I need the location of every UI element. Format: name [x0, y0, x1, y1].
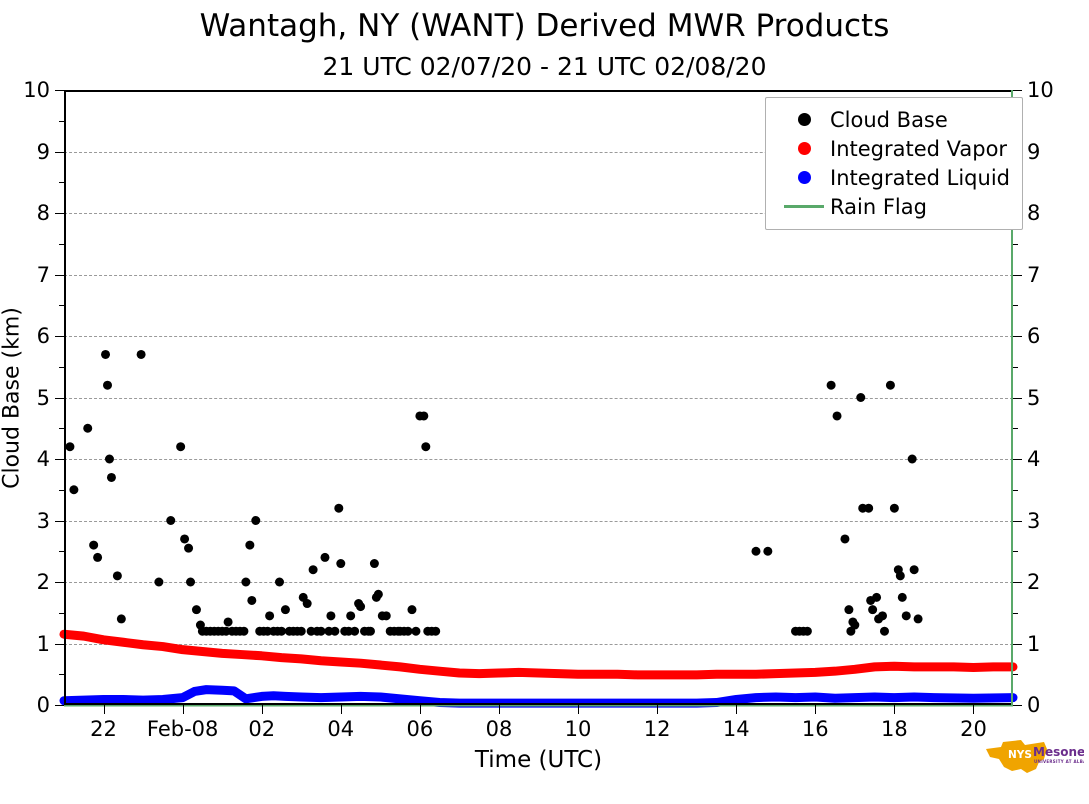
cloud-base-point	[370, 559, 379, 568]
y-minor-tick-left	[59, 674, 64, 675]
legend-cloud-base[interactable]: Cloud Base	[778, 105, 1010, 134]
y-tick-left-9	[55, 152, 64, 153]
cloud-base-point	[878, 611, 887, 620]
y-ticklabel-right-10: 10	[1027, 78, 1054, 102]
y-ticklabel-right-0: 0	[1027, 693, 1040, 717]
cloud-base-point	[105, 455, 114, 464]
x-ticklabel-5: 08	[486, 717, 513, 741]
cloud-base-point	[180, 534, 189, 543]
cloud-base-point	[914, 614, 923, 623]
y-ticklabel-left-8: 8	[37, 201, 50, 225]
legend-rain-flag[interactable]: Rain Flag	[778, 192, 1010, 221]
cloud-base-point	[176, 442, 185, 451]
x-ticklabel-8: 14	[723, 717, 750, 741]
y-minor-tick-left	[59, 182, 64, 183]
y-tick-left-1	[55, 644, 64, 645]
cloud-base-point	[69, 485, 78, 494]
cloud-base-scatter	[65, 350, 922, 636]
y-minor-tick-left	[59, 428, 64, 429]
cloud-base-point	[908, 455, 917, 464]
x-tick-0	[104, 705, 105, 714]
y-tick-right-6	[1013, 336, 1022, 337]
cloud-base-point	[356, 602, 365, 611]
cloud-base-point	[303, 599, 312, 608]
cloud-base-point	[317, 627, 326, 636]
cloud-base-point	[93, 553, 102, 562]
axis-spine-top	[64, 90, 1013, 92]
cloud-base-point	[65, 442, 74, 451]
y-tick-left-6	[55, 336, 64, 337]
legend-swatch	[784, 205, 824, 208]
x-ticklabel-6: 10	[565, 717, 592, 741]
cloud-base-point	[366, 627, 375, 636]
y-ticklabel-left-2: 2	[37, 570, 50, 594]
cloud-base-point	[281, 605, 290, 614]
y-tick-left-5	[55, 398, 64, 399]
y-minor-tick-left	[59, 490, 64, 491]
cloud-base-point	[309, 565, 318, 574]
x-tick-7	[657, 705, 658, 714]
y-ticklabel-right-4: 4	[1027, 447, 1040, 471]
y-ticklabel-left-1: 1	[37, 632, 50, 656]
cloud-base-point	[241, 578, 250, 587]
y-ticklabel-right-2: 2	[1027, 570, 1040, 594]
y-tick-left-7	[55, 275, 64, 276]
legend-label: Integrated Liquid	[830, 166, 1010, 190]
x-tick-11	[973, 705, 974, 714]
cloud-base-point	[320, 553, 329, 562]
legend-dot-icon	[778, 142, 830, 155]
y-tick-right-5	[1013, 398, 1022, 399]
cloud-base-point	[326, 611, 335, 620]
x-tick-6	[578, 705, 579, 714]
x-ticklabel-3: 04	[327, 717, 354, 741]
y-minor-tick-left	[59, 613, 64, 614]
cloud-base-point	[763, 547, 772, 556]
y-ticklabel-right-1: 1	[1027, 632, 1040, 656]
x-tick-8	[736, 705, 737, 714]
y-minor-tick-right	[1013, 244, 1018, 245]
cloud-base-point	[251, 516, 260, 525]
cloud-base-point	[346, 611, 355, 620]
cloud-base-point	[192, 605, 201, 614]
cloud-base-point	[374, 590, 383, 599]
logo-nys-text: NYS	[1008, 749, 1032, 761]
cloud-base-point	[336, 559, 345, 568]
y-tick-left-3	[55, 521, 64, 522]
cloud-base-point	[265, 611, 274, 620]
x-tick-4	[420, 705, 421, 714]
cloud-base-point	[431, 627, 440, 636]
x-tick-2	[262, 705, 263, 714]
x-tick-1	[183, 705, 184, 714]
page-title: Wantagh, NY (WANT) Derived MWR Products	[0, 8, 1089, 44]
cloud-base-point	[154, 578, 163, 587]
cloud-base-point	[856, 393, 865, 402]
y-tick-right-2	[1013, 582, 1022, 583]
y-tick-left-2	[55, 582, 64, 583]
y-minor-tick-right	[1013, 674, 1018, 675]
cloud-base-point	[751, 547, 760, 556]
y-ticklabel-left-10: 10	[23, 78, 50, 102]
cloud-base-point	[137, 350, 146, 359]
cloud-base-point	[407, 605, 416, 614]
cloud-base-point	[886, 381, 895, 390]
legend-integrated-vapor[interactable]: Integrated Vapor	[778, 134, 1010, 163]
y-minor-tick-right	[1013, 305, 1018, 306]
y-tick-left-4	[55, 459, 64, 460]
cloud-base-point	[277, 627, 286, 636]
cloud-base-point	[184, 544, 193, 553]
x-ticklabel-11: 20	[960, 717, 987, 741]
legend-label: Rain Flag	[830, 195, 927, 219]
y-minor-tick-right	[1013, 613, 1018, 614]
cloud-base-point	[330, 627, 339, 636]
x-ticklabel-10: 18	[881, 717, 908, 741]
chart-legend: Cloud BaseIntegrated VaporIntegrated Liq…	[765, 97, 1023, 230]
y-minor-tick-left	[59, 551, 64, 552]
y-ticklabel-right-3: 3	[1027, 509, 1040, 533]
y-minor-tick-right	[1013, 367, 1018, 368]
y-tick-left-8	[55, 213, 64, 214]
cloud-base-point	[898, 593, 907, 602]
integrated-liquid-line	[64, 690, 1013, 704]
y-ticklabel-left-9: 9	[37, 140, 50, 164]
cloud-base-point	[868, 605, 877, 614]
cloud-base-point	[844, 605, 853, 614]
cloud-base-point	[404, 627, 413, 636]
cloud-base-point	[350, 627, 359, 636]
x-axis-title: Time (UTC)	[475, 747, 602, 773]
chart-subtitle: 21 UTC 02/07/20 - 21 UTC 02/08/20	[0, 52, 1089, 81]
y-minor-tick-left	[59, 121, 64, 122]
cloud-base-point	[275, 578, 284, 587]
cloud-base-point	[910, 565, 919, 574]
y-minor-tick-left	[59, 305, 64, 306]
y-ticklabel-left-5: 5	[37, 386, 50, 410]
x-ticklabel-4: 06	[407, 717, 434, 741]
y-minor-tick-left	[59, 367, 64, 368]
y-minor-tick-right	[1013, 428, 1018, 429]
y-ticklabel-right-9: 9	[1027, 140, 1040, 164]
y-ticklabel-left-6: 6	[37, 324, 50, 348]
y-axis-left-title: Cloud Base (km)	[0, 307, 25, 489]
y-tick-right-1	[1013, 644, 1022, 645]
cloud-base-point	[421, 442, 430, 451]
x-ticklabel-7: 12	[644, 717, 671, 741]
legend-dot-icon	[778, 171, 830, 184]
x-ticklabel-9: 16	[802, 717, 829, 741]
cloud-base-point	[224, 617, 233, 626]
legend-label: Cloud Base	[830, 108, 948, 132]
cloud-base-point	[113, 571, 122, 580]
x-tick-3	[341, 705, 342, 714]
legend-integrated-liquid[interactable]: Integrated Liquid	[778, 163, 1010, 192]
cloud-base-point	[382, 611, 391, 620]
legend-swatch	[798, 171, 811, 184]
cloud-base-point	[101, 350, 110, 359]
cloud-base-point	[297, 627, 306, 636]
cloud-base-point	[186, 578, 195, 587]
cloud-base-point	[864, 504, 873, 513]
cloud-base-point	[83, 424, 92, 433]
cloud-base-point	[896, 571, 905, 580]
cloud-base-point	[103, 381, 112, 390]
cloud-base-point	[89, 541, 98, 550]
axis-spine-left	[64, 90, 66, 705]
cloud-base-point	[334, 504, 343, 513]
plot-area: 012345678910 012345678910 22Feb-08020406…	[64, 90, 1013, 705]
cloud-base-point	[803, 627, 812, 636]
x-ticklabel-2: 02	[248, 717, 275, 741]
y-minor-tick-right	[1013, 551, 1018, 552]
cloud-base-point	[880, 627, 889, 636]
axis-spine-bottom	[64, 703, 1013, 705]
cloud-base-point	[239, 627, 248, 636]
y-tick-right-7	[1013, 275, 1022, 276]
x-ticklabel-1: Feb-08	[147, 717, 218, 741]
cloud-base-point	[833, 411, 842, 420]
legend-swatch	[798, 113, 811, 126]
cloud-base-point	[840, 534, 849, 543]
integrated-vapor-line	[64, 634, 1013, 675]
y-ticklabel-left-4: 4	[37, 447, 50, 471]
cloud-base-point	[872, 593, 881, 602]
logo-mesonet-text: Mesonet	[1033, 745, 1084, 759]
y-tick-left-10	[55, 90, 64, 91]
y-tick-right-3	[1013, 521, 1022, 522]
y-minor-tick-left	[59, 244, 64, 245]
y-minor-tick-right	[1013, 490, 1018, 491]
cloud-base-point	[890, 504, 899, 513]
cloud-base-point	[245, 541, 254, 550]
cloud-base-point	[850, 621, 859, 630]
cloud-base-point	[827, 381, 836, 390]
cloud-base-point	[419, 411, 428, 420]
cloud-base-point	[902, 611, 911, 620]
x-tick-10	[894, 705, 895, 714]
chart-figure: Wantagh, NY (WANT) Derived MWR Products …	[0, 0, 1089, 804]
cloud-base-point	[107, 473, 116, 482]
cloud-base-point	[166, 516, 175, 525]
legend-dot-icon	[778, 113, 830, 126]
legend-label: Integrated Vapor	[830, 137, 1007, 161]
y-ticklabel-right-7: 7	[1027, 263, 1040, 287]
y-ticklabel-left-0: 0	[37, 693, 50, 717]
legend-line-icon	[778, 205, 830, 208]
cloud-base-point	[411, 627, 420, 636]
y-ticklabel-left-7: 7	[37, 263, 50, 287]
y-ticklabel-right-8: 8	[1027, 201, 1040, 225]
cloud-base-point	[117, 614, 126, 623]
y-tick-right-0	[1013, 705, 1022, 706]
y-tick-right-10	[1013, 90, 1022, 91]
legend-swatch	[798, 142, 811, 155]
y-tick-right-4	[1013, 459, 1022, 460]
y-ticklabel-right-6: 6	[1027, 324, 1040, 348]
nys-mesonet-logo: NYS Mesonet UNIVERSITY AT ALBANY	[984, 736, 1084, 778]
y-tick-left-0	[55, 705, 64, 706]
x-tick-5	[499, 705, 500, 714]
logo-tagline-text: UNIVERSITY AT ALBANY	[1034, 759, 1084, 764]
y-ticklabel-left-3: 3	[37, 509, 50, 533]
x-tick-9	[815, 705, 816, 714]
cloud-base-point	[247, 596, 256, 605]
y-ticklabel-right-5: 5	[1027, 386, 1040, 410]
x-ticklabel-0: 22	[90, 717, 117, 741]
